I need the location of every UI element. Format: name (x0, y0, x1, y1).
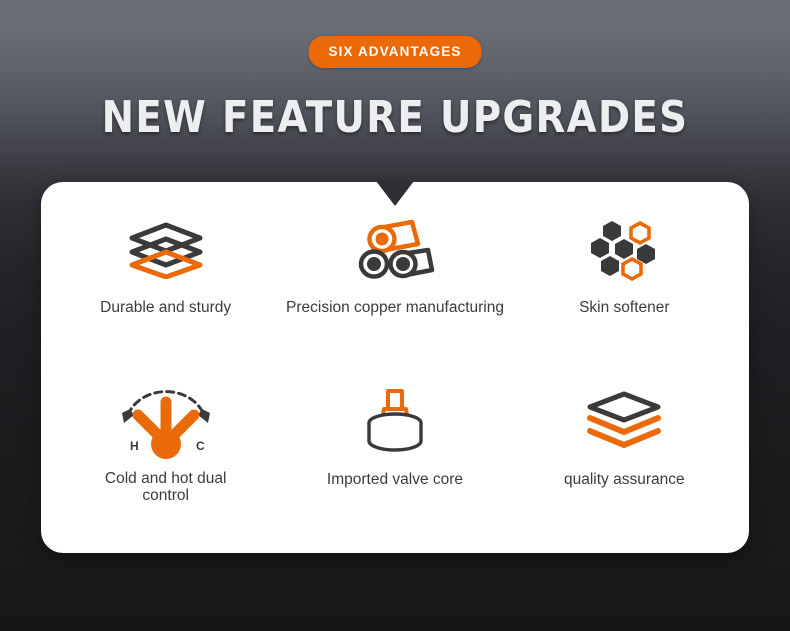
promo-banner: SIX ADVANTAGES NEW FEATURE UPGRADES Dura… (0, 0, 790, 631)
feature-label: Precision copper manufacturing (286, 298, 504, 317)
feature-item-skin-softener[interactable]: Skin softener (510, 204, 739, 370)
feature-item-valve-core[interactable]: Imported valve core (280, 370, 509, 536)
copper-pipes-icon (352, 204, 438, 296)
feature-item-precision-copper[interactable]: Precision copper manufacturing (280, 204, 509, 370)
page-title: NEW FEATURE UPGRADES (47, 92, 742, 143)
feature-label: Durable and sturdy (100, 298, 231, 317)
card-pointer-triangle (376, 181, 414, 206)
feature-label: Imported valve core (327, 470, 463, 489)
valve-core-icon (358, 370, 432, 468)
feature-item-dual-control[interactable]: H C Cold and hot dual control (51, 370, 280, 536)
feature-item-durable[interactable]: Durable and sturdy (51, 204, 280, 370)
feature-label: Skin softener (579, 298, 669, 317)
cold-mark: C (196, 439, 205, 453)
hot-mark: H (130, 439, 139, 453)
layers-icon (127, 204, 205, 296)
feature-label-line2: control (142, 487, 189, 504)
feature-label: Cold and hot dual control (105, 470, 227, 506)
features-grid: Durable and sturdy (41, 182, 749, 553)
feature-label: quality assurance (564, 470, 685, 489)
hexagon-cluster-icon (584, 204, 664, 296)
hot-cold-handle-icon: H C (114, 370, 218, 468)
section-badge: SIX ADVANTAGES (309, 36, 482, 68)
stacked-layers-icon (585, 370, 663, 468)
feature-item-quality-assurance[interactable]: quality assurance (510, 370, 739, 536)
feature-label-line1: Cold and hot dual (105, 470, 227, 487)
